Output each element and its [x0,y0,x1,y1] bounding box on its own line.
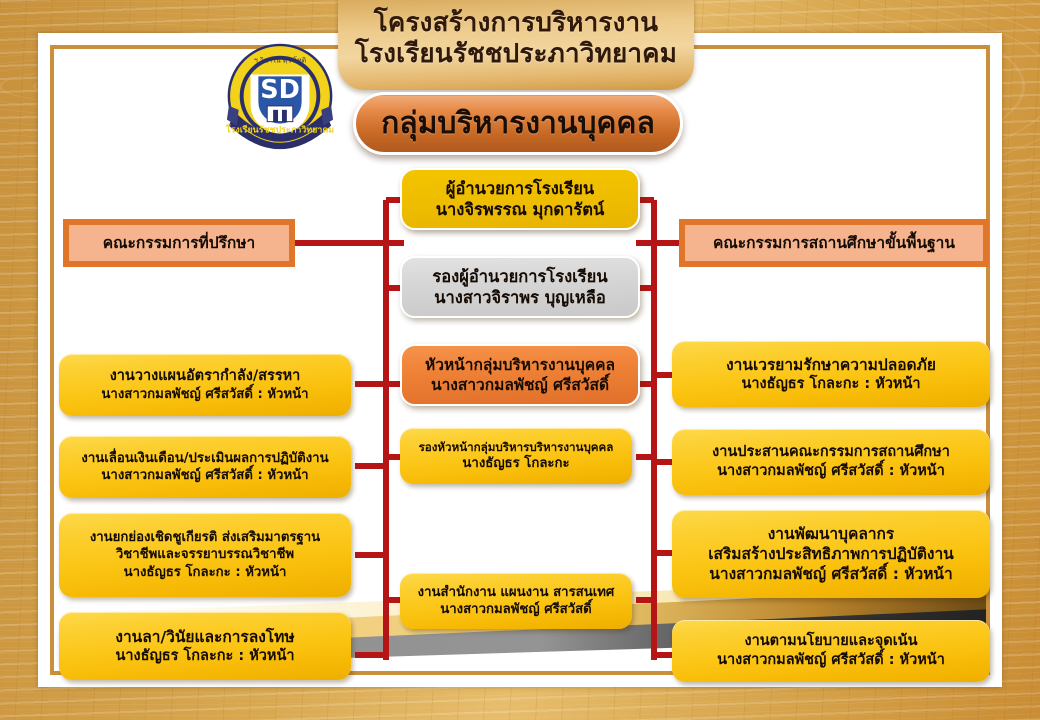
left-unit-0-person: นางสาวกมลพัชญ์ ศรีสวัสดิ์ : หัวหน้า [101,386,308,403]
left-unit-2[interactable]: งานยกย่องเชิดชูเกียรติ ส่งเสริมมาตรฐาน ว… [59,513,351,597]
node-director[interactable]: ผู้อำนวยการโรงเรียน นางจิรพรรณ มุกดารัตน… [400,168,640,230]
poster-title-line2: โรงเรียนรัชชประภาวิทยาคม [338,38,694,70]
group-deputy-head-name: นางธัญธร โกละกะ [462,455,569,472]
node-advisory-committee[interactable]: คณะกรรมการที่ปรึกษา [63,219,295,267]
node-office-work[interactable]: งานสำนักงาน แผนงาน สารสนเทศ นางสาวกมลพัช… [400,573,632,629]
right-unit-2-title: งานพัฒนาบุคลากร [768,524,895,544]
left-unit-2-person: นางธัญธร โกละกะ : หัวหน้า [124,564,287,581]
left-unit-0[interactable]: งานวางแผนอัตรากำลัง/สรรหา นางสาวกมลพัชญ์… [59,354,351,416]
left-unit-3-title: งานลา/วินัยและการลงโทษ [115,627,294,647]
poster-title-line1: โครงสร้างการบริหารงาน [338,0,694,38]
right-unit-0-title: งานเวรยามรักษาความปลอดภัย [726,355,936,375]
svg-text:SD: SD [260,75,300,105]
group-title-pill: กลุ่มบริหารงานบุคคล [353,92,683,155]
director-position: ผู้อำนวยการโรงเรียน [446,178,594,199]
right-unit-3-person: นางสาวกมลพัชญ์ ศรีสวัสดิ์ : หัวหน้า [717,651,945,670]
advisory-committee-label: คณะกรรมการที่ปรึกษา [103,233,255,253]
left-unit-1[interactable]: งานเลื่อนเงินเดือน/ประเมินผลการปฏิบัติงา… [59,436,351,498]
group-deputy-head-position: รองหัวหน้ากลุ่มบริหารบริหารงานบุคคล [419,440,614,455]
right-unit-1-title: งานประสานคณะกรรมการสถานศึกษา [712,443,950,462]
office-work-title: งานสำนักงาน แผนงาน สารสนเทศ [418,584,615,601]
left-unit-1-person: นางสาวกมลพัชญ์ ศรีสวัสดิ์ : หัวหน้า [101,467,308,484]
group-head-name: นางสาวกมลพัชญ์ ศรีสวัสดิ์ [431,375,609,395]
deputy-director-position: รองผู้อำนวยการโรงเรียน [432,266,607,287]
right-unit-1-person: นางสาวกมลพัชญ์ ศรีสวัสดิ์ : หัวหน้า [717,462,945,481]
left-unit-2-title: งานยกย่องเชิดชูเกียรติ ส่งเสริมมาตรฐาน [90,529,320,546]
right-unit-0[interactable]: งานเวรยามรักษาความปลอดภัย นางธัญธร โกละก… [672,341,990,407]
right-unit-3-title: งานตามนโยบายและจุดเน้น [744,632,917,651]
right-unit-1[interactable]: งานประสานคณะกรรมการสถานศึกษา นางสาวกมลพั… [672,429,990,495]
logo-ribbon-text: โรงเรียนรัชชประภาวิทยาคม [225,123,334,135]
node-group-head[interactable]: หัวหน้ากลุ่มบริหารงานบุคคล นางสาวกมลพัชญ… [400,344,640,406]
right-unit-2[interactable]: งานพัฒนาบุคลากร เสริมสร้างประสิทธิภาพการ… [672,510,990,598]
group-title-text: กลุ่มบริหารงานบุคคล [381,100,655,147]
left-unit-1-title: งานเลื่อนเงินเดือน/ประเมินผลการปฏิบัติงา… [81,450,328,467]
poster-title-banner: โครงสร้างการบริหารงาน โรงเรียนรัชชประภาว… [338,0,694,90]
node-deputy-director[interactable]: รองผู้อำนวยการโรงเรียน นางสาวจิราพร บุญเ… [400,256,640,318]
poster-canvas: โครงสร้างการบริหารงาน โรงเรียนรัชชประภาว… [0,0,1040,720]
right-unit-3[interactable]: งานตามนโยบายและจุดเน้น นางสาวกมลพัชญ์ ศร… [672,620,990,682]
school-emblem-logo: SD โรงเรียนรัชชประภาวิทยาคม ฯ วิชาโน ตฺว… [221,41,339,161]
director-name: นางจิรพรรณ มุกดารัตน์ [436,199,605,220]
left-unit-0-title: งานวางแผนอัตรากำลัง/สรรหา [110,367,301,386]
node-group-deputy-head[interactable]: รองหัวหน้ากลุ่มบริหารบริหารงานบุคคล นางธ… [400,428,632,484]
left-unit-2-title2: วิชาชีพและจรรยาบรรณวิชาชีพ [116,546,294,563]
right-unit-0-person: นางธัญธร โกละกะ : หัวหน้า [741,375,920,394]
group-head-position: หัวหน้ากลุ่มบริหารงานบุคคล [425,355,615,375]
left-unit-3-person: นางธัญธร โกละกะ : หัวหน้า [115,647,294,666]
right-unit-2-person: นางสาวกมลพัชญ์ ศรีสวัสดิ์ : หัวหน้า [709,564,952,584]
left-unit-3[interactable]: งานลา/วินัยและการลงโทษ นางธัญธร โกละกะ :… [59,612,351,680]
right-unit-2-title2: เสริมสร้างประสิทธิภาพการปฏิบัติงาน [708,544,954,564]
basic-education-committee-label: คณะกรรมการสถานศึกษาขั้นพื้นฐาน [713,233,955,253]
logo-top-text: ฯ วิชาโน ตฺว โหติ [254,56,306,65]
node-basic-education-committee[interactable]: คณะกรรมการสถานศึกษาขั้นพื้นฐาน [679,219,989,267]
office-work-name: นางสาวกมลพัชญ์ ศรีสวัสดิ์ [440,601,591,618]
deputy-director-name: นางสาวจิราพร บุญเหลือ [434,287,606,308]
